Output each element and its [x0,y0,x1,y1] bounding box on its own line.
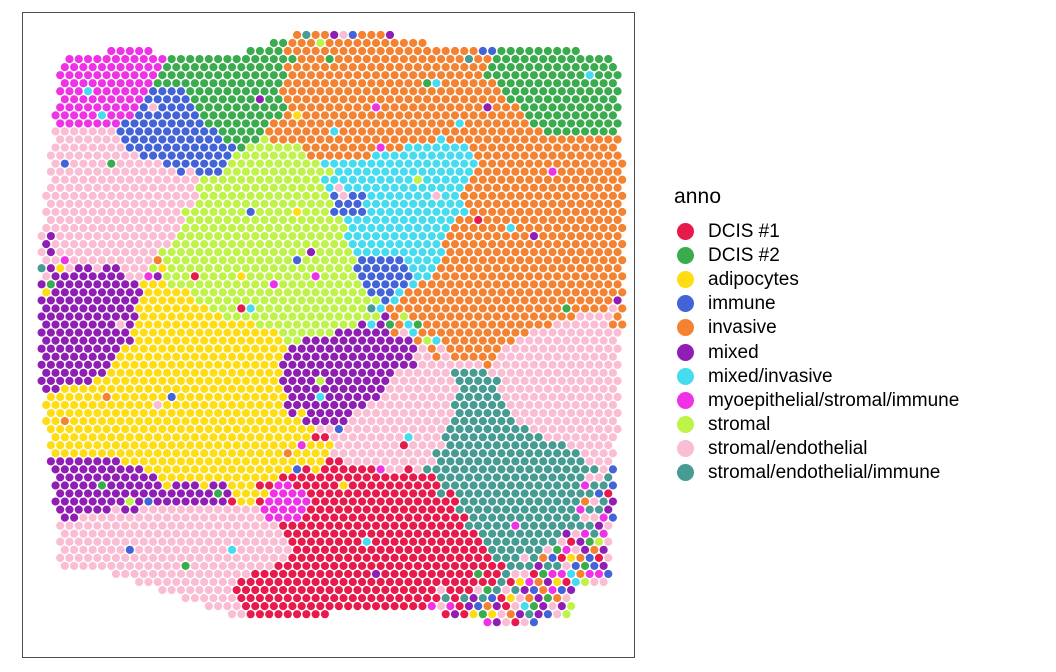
tissue-spot [84,216,92,224]
tissue-spot [191,562,199,570]
tissue-spot [47,264,55,272]
tissue-spot [609,497,617,505]
tissue-spot [442,449,450,457]
tissue-spot [428,216,436,224]
tissue-spot [456,538,464,546]
tissue-spot [414,385,422,393]
tissue-spot [260,296,268,304]
tissue-spot [604,71,612,79]
tissue-spot [89,95,97,103]
tissue-spot [302,401,310,409]
tissue-spot [418,506,426,514]
tissue-spot [38,361,46,369]
tissue-spot [298,103,306,111]
tissue-spot [65,425,73,433]
tissue-spot [163,192,171,200]
tissue-spot [590,514,598,522]
tissue-spot [562,224,570,232]
tissue-spot [163,224,171,232]
tissue-spot [483,264,491,272]
tissue-spot [149,489,157,497]
tissue-spot [349,288,357,296]
tissue-spot [130,570,138,578]
tissue-spot [274,208,282,216]
tissue-spot [65,377,73,385]
tissue-spot [228,240,236,248]
tissue-spot [79,417,87,425]
tissue-spot [456,296,464,304]
tissue-spot [279,200,287,208]
tissue-spot [381,296,389,304]
tissue-spot [404,497,412,505]
tissue-spot [381,39,389,47]
tissue-spot [330,401,338,409]
tissue-spot [386,256,394,264]
tissue-spot [293,224,301,232]
tissue-spot [600,546,608,554]
tissue-spot [223,71,231,79]
tissue-spot [107,304,115,312]
tissue-spot [251,71,259,79]
tissue-spot [525,192,533,200]
tissue-spot [377,594,385,602]
legend-item[interactable]: mixed [672,340,1042,364]
tissue-spot [600,497,608,505]
tissue-spot [186,441,194,449]
tissue-spot [112,280,120,288]
tissue-spot [581,514,589,522]
tissue-spot [75,361,83,369]
tissue-spot [381,602,389,610]
tissue-spot [483,425,491,433]
tissue-spot [274,401,282,409]
tissue-spot [581,288,589,296]
tissue-spot [149,538,157,546]
tissue-spot [521,554,529,562]
tissue-spot [353,345,361,353]
tissue-spot [493,248,501,256]
tissue-spot [75,87,83,95]
legend-item[interactable]: stromal/endothelial [672,437,1042,461]
tissue-spot [163,127,171,135]
tissue-spot [237,63,245,71]
tissue-spot [223,329,231,337]
tissue-spot [600,385,608,393]
tissue-spot [535,514,543,522]
tissue-spot [488,610,496,618]
tissue-spot [511,119,519,127]
tissue-spot [595,522,603,530]
tissue-spot [423,256,431,264]
tissue-spot [140,280,148,288]
tissue-spot [163,63,171,71]
tissue-spot [344,345,352,353]
tissue-spot [442,272,450,280]
tissue-spot [103,119,111,127]
tissue-spot [274,562,282,570]
legend-item[interactable]: DCIS #1 [672,219,1042,243]
tissue-spot [325,506,333,514]
tissue-spot [442,497,450,505]
tissue-spot [177,312,185,320]
tissue-spot [465,345,473,353]
tissue-spot [595,103,603,111]
tissue-spot [219,272,227,280]
tissue-spot [186,489,194,497]
tissue-spot [437,248,445,256]
tissue-spot [386,433,394,441]
tissue-spot [562,594,570,602]
tissue-spot [247,95,255,103]
tissue-spot [600,369,608,377]
tissue-spot [377,127,385,135]
tissue-spot [335,425,343,433]
legend-item[interactable]: adipocytes [672,267,1042,291]
tissue-spot [75,264,83,272]
tissue-spot [363,393,371,401]
tissue-spot [451,497,459,505]
tissue-spot [307,71,315,79]
tissue-spot [479,465,487,473]
tissue-spot [312,31,320,39]
tissue-spot [460,320,468,328]
tissue-spot [423,288,431,296]
tissue-spot [284,240,292,248]
tissue-spot [595,296,603,304]
tissue-spot [260,554,268,562]
tissue-spot [247,449,255,457]
tissue-spot [233,135,241,143]
tissue-spot [284,256,292,264]
tissue-spot [386,449,394,457]
tissue-spot [442,192,450,200]
tissue-spot [335,329,343,337]
legend-item[interactable]: stromal [672,413,1042,437]
tissue-spot [209,143,217,151]
tissue-spot [367,111,375,119]
tissue-spot [469,385,477,393]
tissue-spot [75,200,83,208]
tissue-spot [158,586,166,594]
tissue-spot [288,248,296,256]
tissue-spot [302,385,310,393]
tissue-spot [404,353,412,361]
tissue-spot [600,208,608,216]
tissue-spot [51,240,59,248]
tissue-spot [214,457,222,465]
tissue-spot [539,457,547,465]
tissue-spot [339,546,347,554]
tissue-spot [600,224,608,232]
tissue-spot [418,216,426,224]
tissue-spot [75,55,83,63]
tissue-spot [451,530,459,538]
tissue-spot [442,401,450,409]
tissue-spot [182,304,190,312]
tissue-spot [84,457,92,465]
tissue-spot [325,425,333,433]
tissue-spot [474,329,482,337]
tissue-spot [51,433,59,441]
tissue-spot [432,304,440,312]
tissue-spot [228,385,236,393]
tissue-spot [381,200,389,208]
tissue-spot [344,312,352,320]
tissue-spot [530,119,538,127]
legend-item[interactable]: DCIS #2 [672,243,1042,267]
tissue-spot [432,353,440,361]
tissue-spot [423,79,431,87]
tissue-spot [521,135,529,143]
tissue-spot [302,240,310,248]
tissue-spot [56,184,64,192]
tissue-spot [358,337,366,345]
tissue-spot [493,200,501,208]
tissue-spot [237,95,245,103]
tissue-spot [154,143,162,151]
tissue-spot [497,160,505,168]
tissue-spot [349,272,357,280]
tissue-spot [516,610,524,618]
tissue-spot [270,377,278,385]
tissue-spot [172,562,180,570]
tissue-spot [353,39,361,47]
tissue-spot [242,361,250,369]
tissue-spot [576,216,584,224]
tissue-spot [437,329,445,337]
tissue-spot [219,337,227,345]
tissue-spot [61,288,69,296]
tissue-spot [144,160,152,168]
tissue-spot [112,538,120,546]
tissue-spot [446,216,454,224]
tissue-spot [182,320,190,328]
tissue-spot [586,55,594,63]
tissue-spot [321,272,329,280]
tissue-spot [107,208,115,216]
tissue-spot [293,47,301,55]
legend-item-label: stromal/endothelial/immune [698,463,940,482]
tissue-spot [274,127,282,135]
tissue-spot [335,409,343,417]
tissue-spot [604,280,612,288]
tissue-spot [576,55,584,63]
tissue-spot [558,200,566,208]
tissue-spot [395,224,403,232]
tissue-spot [367,465,375,473]
tissue-spot [56,473,64,481]
tissue-spot [483,345,491,353]
tissue-spot [349,497,357,505]
tissue-spot [325,538,333,546]
tissue-spot [312,288,320,296]
legend-item[interactable]: stromal/endothelial/immune [672,461,1042,485]
tissue-spot [576,232,584,240]
tissue-spot [432,481,440,489]
tissue-spot [497,240,505,248]
tissue-spot [163,433,171,441]
tissue-spot [600,95,608,103]
tissue-spot [307,312,315,320]
tissue-spot [576,135,584,143]
tissue-spot [256,369,264,377]
tissue-spot [321,63,329,71]
tissue-spot [158,216,166,224]
tissue-spot [98,224,106,232]
tissue-spot [363,296,371,304]
tissue-spot [260,489,268,497]
tissue-spot [400,312,408,320]
tissue-spot [604,506,612,514]
tissue-spot [446,312,454,320]
tissue-spot [135,47,143,55]
tissue-spot [135,481,143,489]
tissue-spot [316,248,324,256]
legend-item[interactable]: invasive [672,316,1042,340]
legend-item[interactable]: immune [672,292,1042,316]
tissue-spot [93,441,101,449]
legend-title: anno [674,186,1042,207]
tissue-spot [302,192,310,200]
tissue-spot [451,562,459,570]
tissue-spot [288,135,296,143]
tissue-spot [288,39,296,47]
tissue-spot [442,594,450,602]
tissue-spot [312,353,320,361]
tissue-spot [144,337,152,345]
tissue-spot [521,264,529,272]
tissue-spot [446,538,454,546]
tissue-spot [270,296,278,304]
tissue-spot [279,39,287,47]
tissue-spot [339,224,347,232]
tissue-spot [432,272,440,280]
tissue-spot [516,224,524,232]
tissue-spot [112,441,120,449]
tissue-spot [539,87,547,95]
tissue-spot [182,79,190,87]
tissue-spot [344,586,352,594]
tissue-spot [497,594,505,602]
tissue-spot [474,377,482,385]
tissue-spot [307,329,315,337]
tissue-spot [428,264,436,272]
tissue-spot [437,586,445,594]
tissue-spot [567,506,575,514]
tissue-spot [288,586,296,594]
tissue-spot [488,401,496,409]
tissue-spot [130,200,138,208]
tissue-spot [242,280,250,288]
tissue-spot [553,610,561,618]
tissue-spot [525,385,533,393]
tissue-spot [293,160,301,168]
tissue-spot [89,304,97,312]
tissue-spot [414,530,422,538]
tissue-spot [270,586,278,594]
tissue-spot [214,361,222,369]
tissue-spot [558,152,566,160]
tissue-spot [284,497,292,505]
tissue-spot [298,586,306,594]
tissue-spot [47,377,55,385]
tissue-spot [121,55,129,63]
tissue-spot [316,570,324,578]
tissue-spot [182,594,190,602]
legend-item[interactable]: myoepithelial/stromal/immune [672,388,1042,412]
tissue-spot [339,208,347,216]
tissue-spot [488,95,496,103]
tissue-spot [595,248,603,256]
tissue-spot [618,240,626,248]
tissue-spot [84,168,92,176]
tissue-spot [316,538,324,546]
tissue-spot [330,369,338,377]
tissue-spot [321,514,329,522]
tissue-spot [437,168,445,176]
tissue-spot [79,497,87,505]
tissue-spot [168,538,176,546]
tissue-spot [442,465,450,473]
tissue-spot [502,570,510,578]
tissue-spot [172,514,180,522]
tissue-spot [260,473,268,481]
tissue-spot [586,200,594,208]
tissue-spot [409,586,417,594]
tissue-spot [600,79,608,87]
tissue-spot [460,449,468,457]
tissue-spot [260,522,268,530]
tissue-spot [395,514,403,522]
tissue-spot [600,433,608,441]
tissue-spot [418,377,426,385]
tissue-spot [428,554,436,562]
tissue-spot [474,441,482,449]
tissue-spot [400,248,408,256]
tissue-spot [562,320,570,328]
legend-item[interactable]: mixed/invasive [672,364,1042,388]
tissue-spot [270,489,278,497]
tissue-spot [330,385,338,393]
tissue-spot [363,522,371,530]
tissue-spot [298,184,306,192]
tissue-spot [228,256,236,264]
tissue-spot [233,345,241,353]
tissue-spot [460,160,468,168]
tissue-spot [103,184,111,192]
tissue-spot [316,39,324,47]
tissue-spot [126,240,134,248]
tissue-spot [312,111,320,119]
tissue-spot [112,87,120,95]
tissue-spot [274,224,282,232]
tissue-spot [325,71,333,79]
tissue-spot [474,312,482,320]
tissue-spot [140,200,148,208]
tissue-spot [260,55,268,63]
tissue-spot [400,361,408,369]
tissue-spot [233,232,241,240]
tissue-spot [51,192,59,200]
tissue-spot [270,345,278,353]
tissue-spot [158,168,166,176]
tissue-spot [409,329,417,337]
tissue-spot [572,546,580,554]
tissue-spot [298,39,306,47]
tissue-spot [507,353,515,361]
tissue-spot [414,143,422,151]
tissue-spot [418,152,426,160]
